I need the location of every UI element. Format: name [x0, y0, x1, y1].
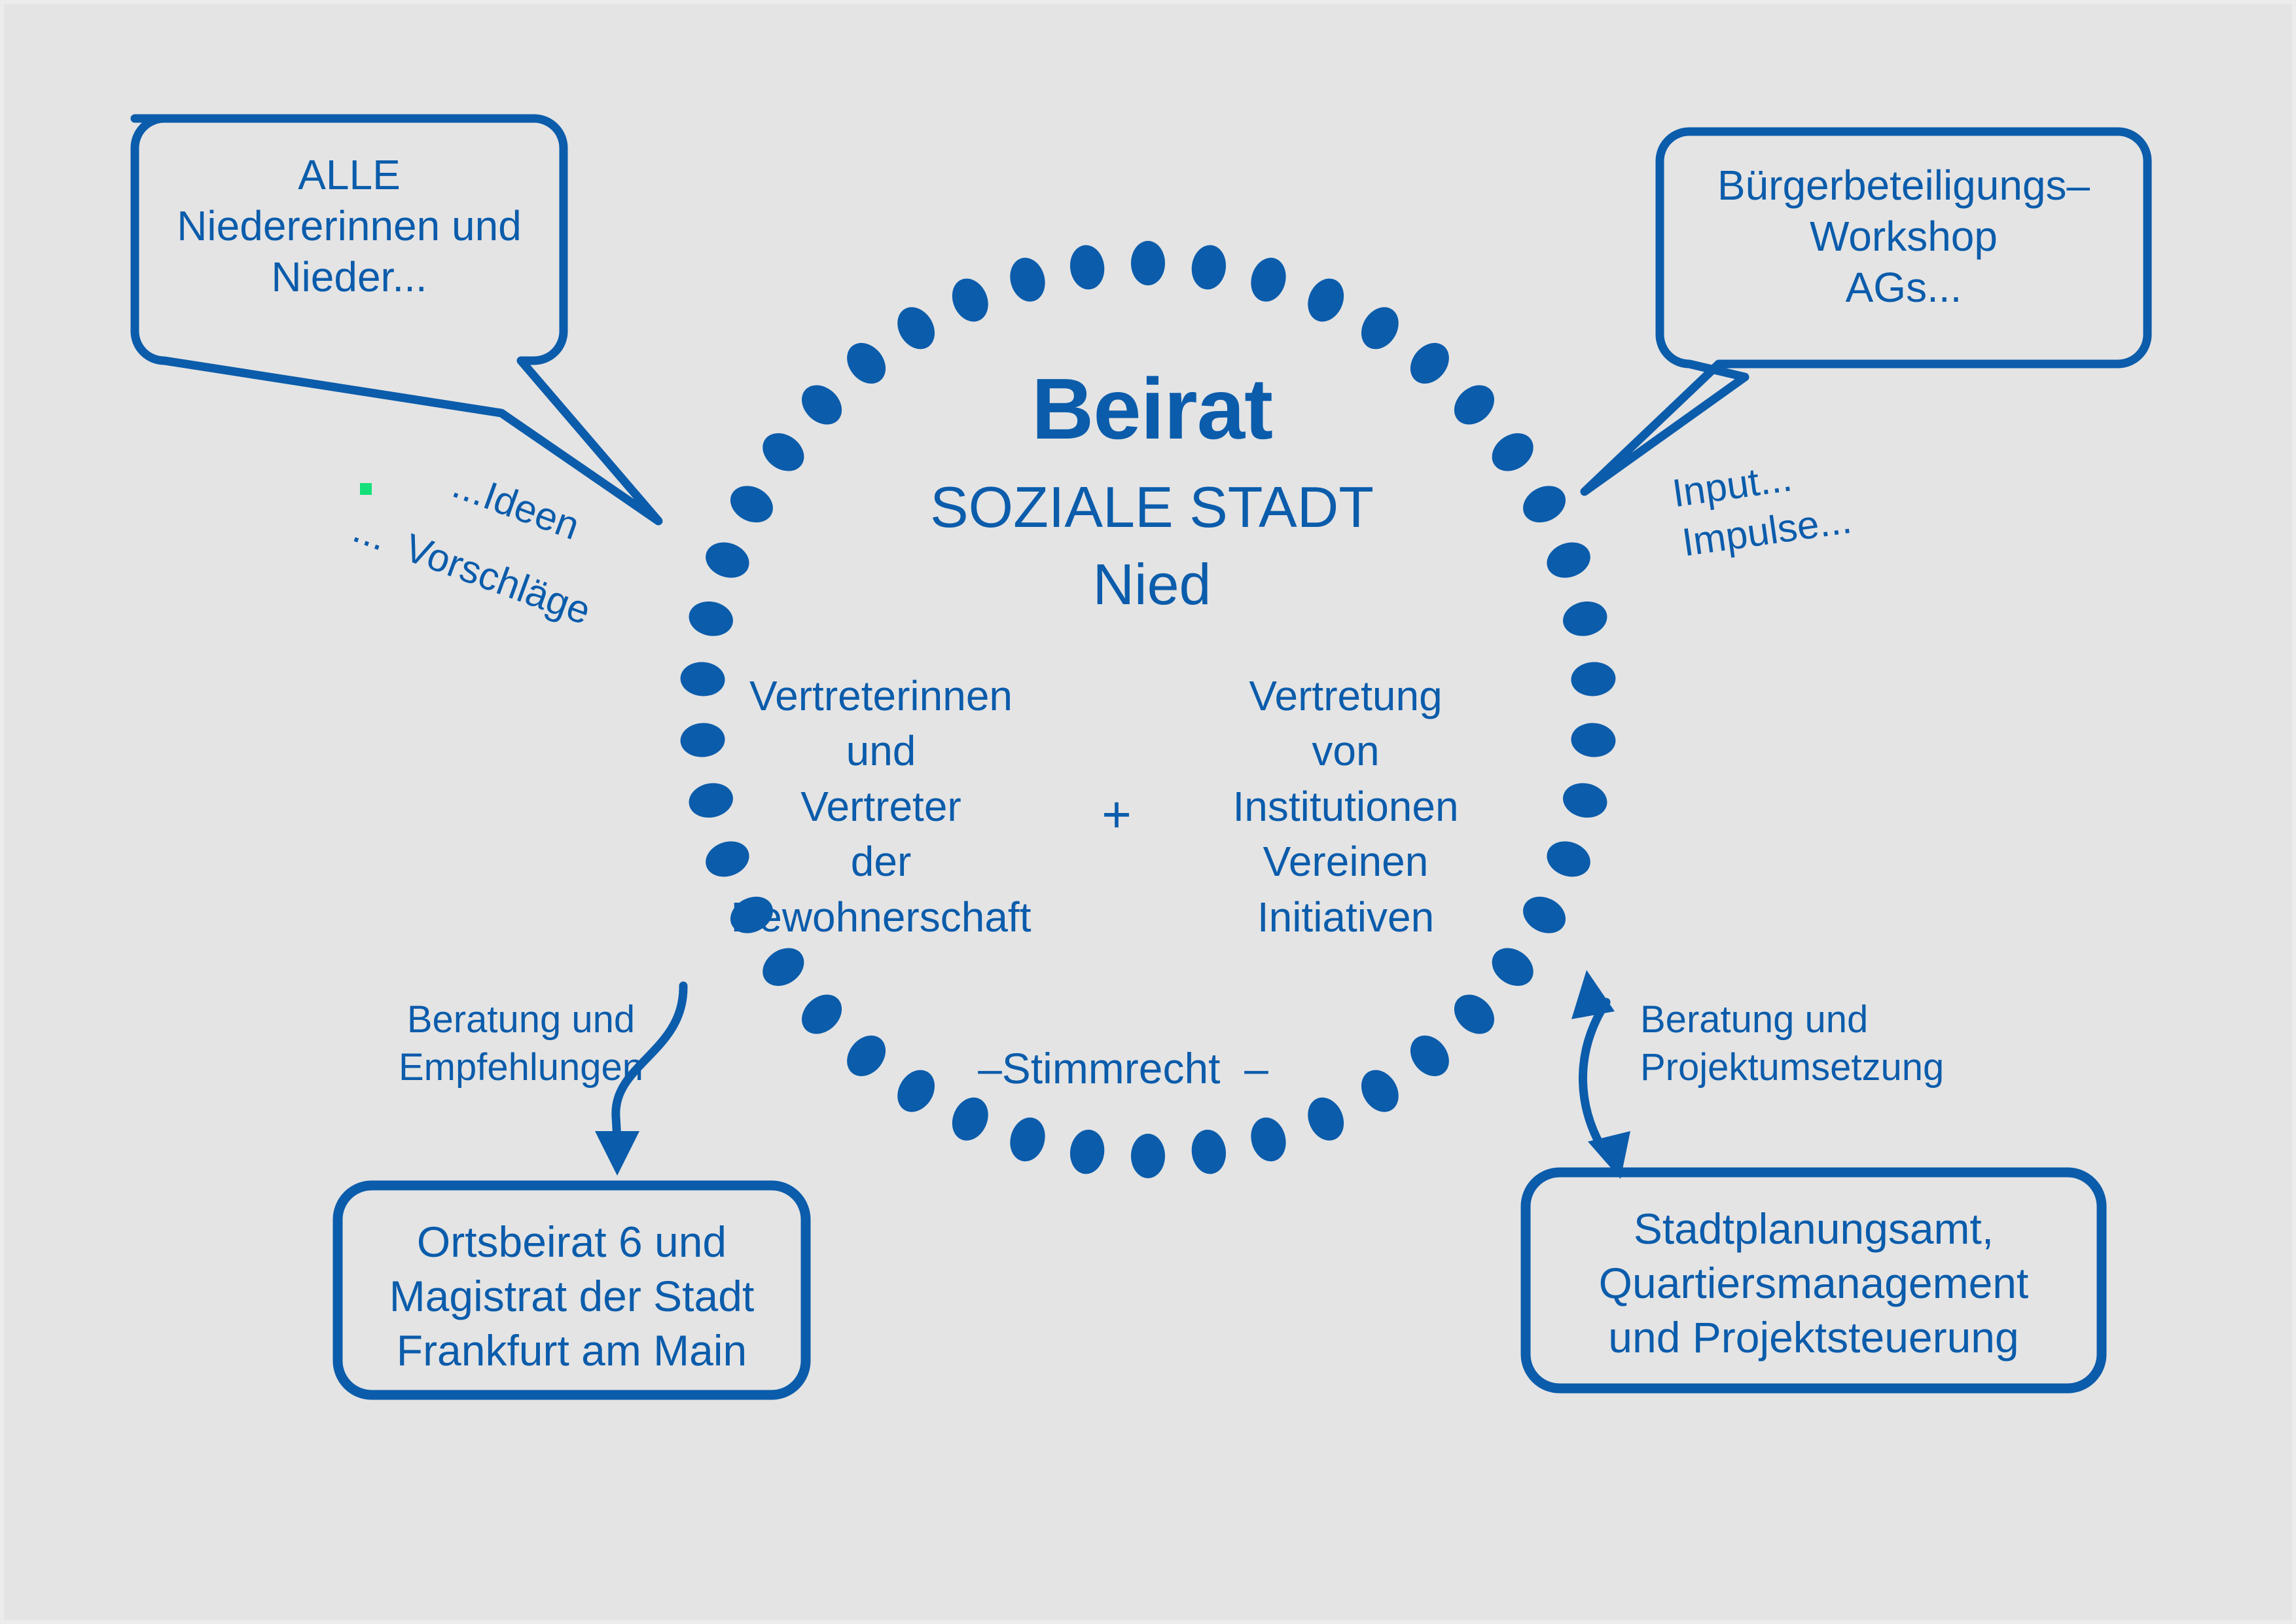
circle-dot: [946, 1092, 995, 1146]
circle-dot: [1560, 779, 1610, 821]
center-subheading: SOZIALE STADT: [4, 475, 2296, 540]
circle-dot: [1067, 243, 1107, 291]
circle-dot: [1446, 986, 1502, 1041]
circle-dot: [755, 940, 812, 994]
circle-dot: [1570, 721, 1617, 759]
circle-dot: [1354, 300, 1406, 356]
circle-dot: [1131, 1134, 1165, 1178]
circle-dot: [1301, 273, 1350, 327]
circle-dot: [1301, 1092, 1350, 1146]
center-location: Nied: [4, 552, 2296, 617]
center-column-right: VertretungvonInstitutionenVereinenInitia…: [1175, 668, 1516, 945]
annotation-beratung-empfehlungen: Beratung undEmpfehlungen: [384, 996, 658, 1091]
circle-dot: [1403, 1028, 1457, 1084]
speech-bubble-left-text: ALLENiedererinnen undNieder...: [135, 149, 564, 302]
circle-dot: [1005, 254, 1050, 306]
diagram-canvas: ALLENiedererinnen undNieder... Bürgerbet…: [0, 0, 2296, 1624]
circle-dot: [946, 273, 995, 327]
circle-dot: [1484, 940, 1541, 994]
circle-dot: [1005, 1113, 1050, 1166]
bottom-left-box-text: Ortsbeirat 6 undMagistrat der StadtFrank…: [338, 1215, 806, 1378]
center-column-left: VertreterinnenundVertreterderBewohnersch…: [711, 668, 1051, 945]
speech-bubble-right-text: Bürgerbeteiligungs–WorkshopAGs...: [1660, 160, 2147, 313]
circle-dot: [1542, 836, 1595, 883]
circle-dot: [890, 300, 942, 356]
circle-dot: [1246, 1113, 1291, 1166]
center-footer-stimmrecht: –Stimmrecht –: [894, 1045, 1352, 1093]
circle-dot: [1067, 1127, 1107, 1176]
circle-dot: [1189, 1127, 1229, 1176]
circle-dot: [1516, 890, 1571, 940]
circle-dot: [1131, 241, 1165, 285]
plus-operator: +: [1077, 786, 1156, 843]
center-heading: Beirat: [4, 361, 2296, 458]
circle-dot: [1189, 243, 1229, 291]
bottom-right-box-text: Stadtplanungsamt,Quartiersmanagementund …: [1526, 1202, 2102, 1365]
annotation-beratung-projektumsetzung: Beratung undProjektumsetzung: [1640, 996, 1948, 1091]
green-marker-dot: [360, 483, 372, 495]
circle-dot: [794, 986, 850, 1041]
circle-dot: [839, 1028, 893, 1084]
arrow-right-double: [1571, 970, 1630, 1179]
circle-dot: [1354, 1063, 1406, 1119]
circle-dot: [1570, 660, 1617, 698]
circle-dot: [1246, 254, 1291, 306]
